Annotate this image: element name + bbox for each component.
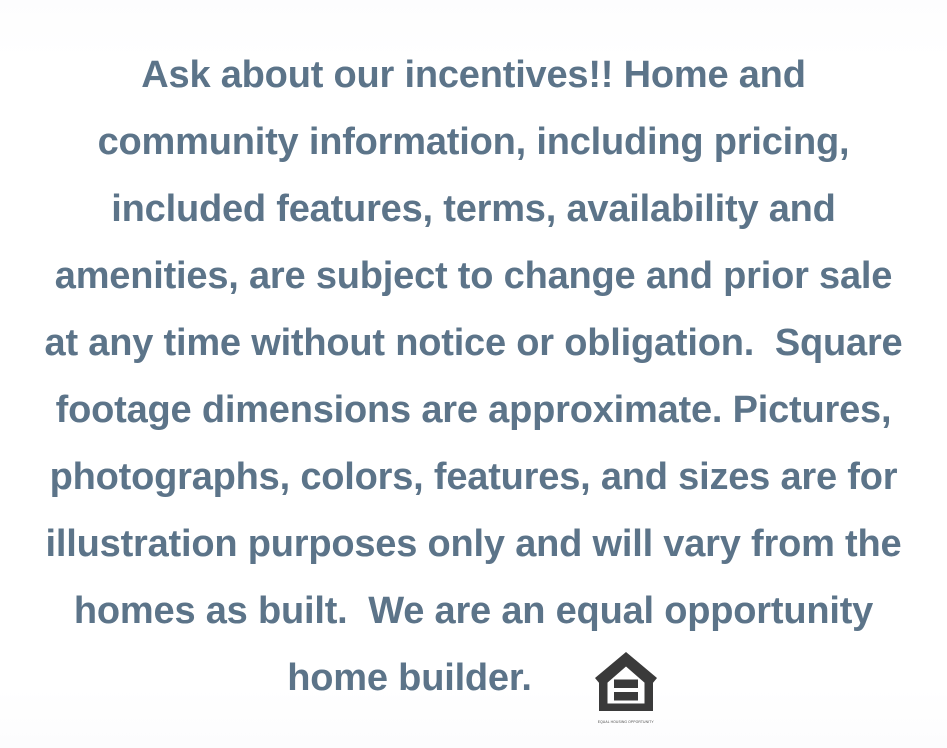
disclaimer-slide: Ask about our incentives!! Home and comm…	[0, 0, 947, 748]
disclaimer-line-5: at any time without notice or obligation…	[0, 310, 947, 377]
disclaimer-line-10: home builder.	[287, 645, 531, 712]
disclaimer-last-line-row: home builder. EQUAL HOUSING OPPORTUNITY	[0, 645, 947, 712]
disclaimer-line-7: photographs, colors, features, and sizes…	[0, 444, 947, 511]
disclaimer-line-1: Ask about our incentives!! Home and	[0, 42, 947, 109]
equal-housing-house-glyph	[592, 647, 660, 725]
disclaimer-line-4: amenities, are subject to change and pri…	[0, 243, 947, 310]
disclaimer-line-2: community information, including pricing…	[0, 109, 947, 176]
disclaimer-line-9: homes as built. We are an equal opportun…	[0, 578, 947, 645]
equal-housing-microtext: EQUAL HOUSING OPPORTUNITY	[592, 720, 660, 724]
disclaimer-line-6: footage dimensions are approximate. Pict…	[0, 377, 947, 444]
equal-housing-opportunity-icon: EQUAL HOUSING OPPORTUNITY	[592, 647, 660, 725]
disclaimer-line-8: illustration purposes only and will vary…	[0, 511, 947, 578]
disclaimer-text-block: Ask about our incentives!! Home and comm…	[0, 42, 947, 712]
disclaimer-line-3: included features, terms, availability a…	[0, 176, 947, 243]
